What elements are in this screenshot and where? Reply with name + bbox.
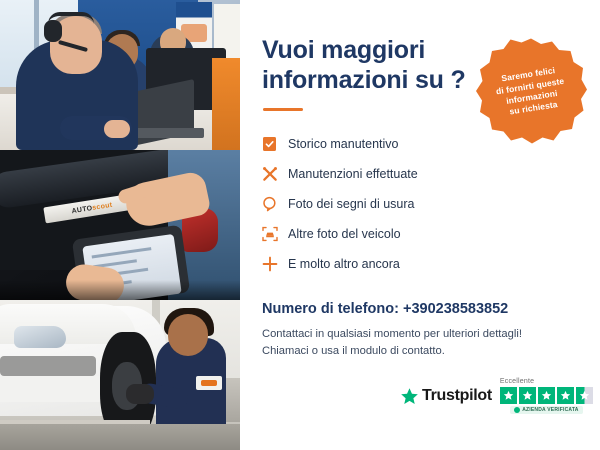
trustpilot-rating-block: Eccellente bbox=[500, 378, 593, 414]
phone-line: Numero di telefono: +390238583852 bbox=[262, 301, 574, 317]
verified-company-badge: AZIENDA VERIFICATA bbox=[510, 406, 582, 414]
star-filled-4 bbox=[557, 387, 574, 404]
trustpilot-logo: Trustpilot bbox=[400, 387, 492, 406]
star-filled-2 bbox=[519, 387, 536, 404]
trustpilot-stars bbox=[500, 387, 593, 404]
contact-description-line-2: Chiamaci o usa il modulo di contatto. bbox=[262, 345, 445, 357]
info-panel: Vuoi maggiori informazioni su ? Saremo f… bbox=[240, 0, 600, 450]
plus-icon bbox=[262, 256, 288, 272]
photo-mechanic-inspecting-white-car-wheel-on-lift bbox=[0, 300, 240, 450]
car-grille bbox=[0, 356, 96, 376]
magnifier-bubble-icon bbox=[262, 196, 288, 212]
verified-label: AZIENDA VERIFICATA bbox=[522, 407, 578, 413]
headline-line-2: informazioni su ? bbox=[262, 66, 466, 94]
star-filled-1 bbox=[500, 387, 517, 404]
garage-floor bbox=[0, 424, 240, 450]
page-title: Vuoi maggiori informazioni su ? bbox=[262, 36, 477, 95]
badge-text: Saremo felici di fornirti queste informa… bbox=[485, 63, 577, 122]
title-underline-rule bbox=[263, 108, 303, 111]
photo-call-center-agents-with-headsets bbox=[0, 0, 240, 150]
contact-description-line-1: Contattaci in qualsiasi momento per ulte… bbox=[262, 328, 522, 340]
car-photo-frame-icon bbox=[262, 226, 288, 242]
list-item: Manutenzioni effettuate bbox=[262, 159, 574, 189]
callout-badge: Saremo felici di fornirti queste informa… bbox=[475, 36, 587, 148]
orange-equipment bbox=[212, 58, 240, 150]
photo-gallery: AUTOscout bbox=[0, 0, 240, 450]
feature-label: Foto dei segni di usura bbox=[288, 197, 414, 211]
mechanic-glove bbox=[126, 384, 154, 404]
list-item: Altre foto del veicolo bbox=[262, 219, 574, 249]
mechanic-head bbox=[168, 314, 208, 356]
list-item: Foto dei segni di usura bbox=[262, 189, 574, 219]
headline-line-1: Vuoi maggiori bbox=[262, 36, 425, 64]
phone-number[interactable]: +390238583852 bbox=[403, 301, 508, 317]
car-headlight bbox=[14, 326, 66, 348]
promo-card: AUTOscout bbox=[0, 0, 600, 450]
feature-label: Storico manutentivo bbox=[288, 137, 398, 151]
list-item: E molto altro ancora bbox=[262, 249, 574, 279]
headset-earpiece bbox=[44, 20, 62, 42]
star-half-5 bbox=[576, 387, 593, 404]
verified-check-icon bbox=[514, 407, 520, 413]
contact-description: Contattaci in qualsiasi momento per ulte… bbox=[262, 326, 552, 361]
photo-technician-measuring-car-paint-with-tablet: AUTOscout bbox=[0, 150, 240, 300]
car-bumper bbox=[0, 376, 106, 402]
trustpilot-rating-label: Eccellente bbox=[500, 378, 534, 385]
trustpilot-widget[interactable]: Trustpilot Eccellente bbox=[400, 378, 593, 414]
uniform-logo-patch bbox=[196, 376, 222, 390]
badge-content: Saremo felici di fornirti queste informa… bbox=[467, 28, 595, 156]
trustpilot-star-icon bbox=[400, 387, 419, 406]
headset-icon bbox=[467, 42, 489, 58]
feature-label: Manutenzioni effettuate bbox=[288, 167, 418, 181]
star-filled-3 bbox=[538, 387, 555, 404]
crossed-tools-icon bbox=[262, 166, 288, 182]
trustpilot-brand-name: Trustpilot bbox=[422, 387, 492, 405]
feature-list: Storico manutentivo Manutenzioni effettu… bbox=[262, 129, 574, 279]
checklist-document-icon bbox=[262, 136, 288, 152]
feature-label: Altre foto del veicolo bbox=[288, 227, 401, 241]
photo-shadow bbox=[0, 280, 240, 300]
feature-label: E molto altro ancora bbox=[288, 257, 400, 271]
agent-hand bbox=[104, 120, 130, 138]
phone-label: Numero di telefono: bbox=[262, 301, 403, 317]
